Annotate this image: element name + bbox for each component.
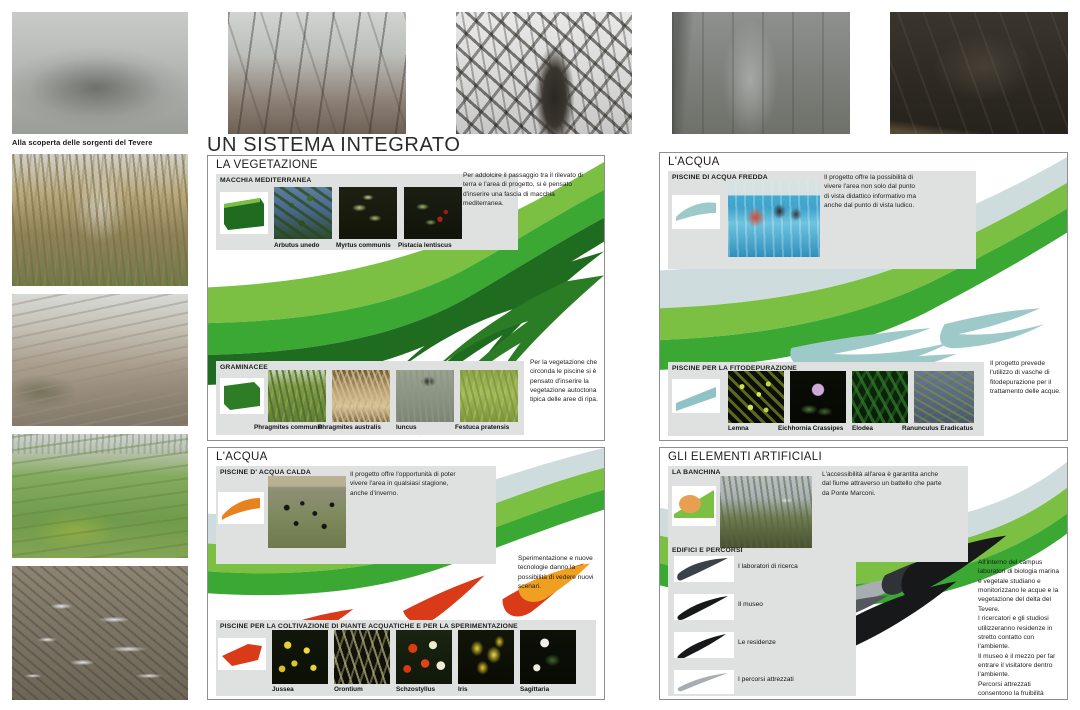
legend-label-residenze: Le residenze xyxy=(738,639,776,646)
plant-label-myrtus: Myrtus communis xyxy=(336,242,391,249)
plant-label-lemna: Lemna xyxy=(728,425,749,432)
legend-item-percorsi: I percorsi attrezzati xyxy=(674,670,842,694)
macchia-mediterranea-note: Per addolcire il passaggio tra il rileva… xyxy=(463,171,593,208)
orange-swatch-icon xyxy=(218,492,264,524)
piscine-acqua-fredda-note: Il progetto offre la possibilità di vive… xyxy=(824,173,920,210)
fog-lake-photo-caption: Alla scoperta delle sorgenti del Tevere xyxy=(12,138,152,147)
thermal-pool-photo xyxy=(268,476,346,548)
plant-thumb-arbutus xyxy=(274,187,332,239)
plant-thumb-myrtus xyxy=(339,187,397,239)
piscine-acqua-fredda-subtitle: PISCINE DI ACQUA FREDDA xyxy=(672,174,768,181)
plant-thumb-jussea xyxy=(272,630,328,684)
panel-elementi-artificiali-title: GLI ELEMENTI ARTIFICIALI xyxy=(668,451,822,463)
legend-label-laboratori: I laboratori di ricerca xyxy=(738,563,798,570)
plant-label-phragmites-communis: Phragmites communis xyxy=(254,424,323,431)
residenze-icon xyxy=(674,632,734,658)
plant-thumb-phragmites-communis xyxy=(268,370,326,422)
plant-thumb-iuncus xyxy=(396,370,454,422)
plant-thumb-ranunculus xyxy=(914,371,974,423)
coltivazione-swatch xyxy=(218,638,266,670)
plant-label-ranunculus: Ranunculus Eradicatus xyxy=(902,425,973,432)
plant-thumb-phragmites-australis xyxy=(332,370,390,422)
bare-tree-silhouette-photo xyxy=(456,12,632,134)
graminacee-swatch xyxy=(220,378,264,414)
fitodepurazione-subtitle: PISCINE PER LA FITODEPURAZIONE xyxy=(672,365,797,372)
panel-acqua-fredda-title: L'ACQUA xyxy=(668,156,720,168)
banchina-subtitle: LA BANCHINA xyxy=(672,469,721,476)
foggy-fence-woods-photo xyxy=(228,12,406,134)
piscine-acqua-calda-note: Il progetto offre l'opportunità di poter… xyxy=(350,470,458,498)
macchia-mediterranea-subtitle: MACCHIA MEDITERRANEA xyxy=(220,177,311,184)
museo-icon xyxy=(674,594,734,620)
plant-label-arbutus: Arbutus unedo xyxy=(274,242,319,249)
page-title: UN SISTEMA INTEGRATO xyxy=(207,134,461,157)
panel-vegetazione: LA VEGETAZIONE MACCHIA MEDITERRANEA Arbu… xyxy=(207,155,605,441)
plant-label-eichhornia: Eichhornia Crassipes xyxy=(778,425,843,432)
fog-monument-photo xyxy=(672,12,850,134)
panel-acqua-calda-title: L'ACQUA xyxy=(216,451,268,463)
coltivazione-subtitle: PISCINE PER LA COLTIVAZIONE DI PIANTE AC… xyxy=(220,623,518,630)
fitodepurazione-swatch xyxy=(672,379,720,413)
legend-label-museo: Il museo xyxy=(738,601,763,608)
panel-vegetazione-title: LA VEGETAZIONE xyxy=(216,159,318,171)
fitodepurazione-note: Il progetto prevede l'utilizzo di vasche… xyxy=(990,359,1062,396)
plant-thumb-schzostyllus xyxy=(396,630,452,684)
graminacee-subtitle: GRAMINACEE xyxy=(220,364,268,371)
plant-thumb-orontium xyxy=(334,630,390,684)
piscine-acqua-calda-subtitle: PISCINE D' ACQUA CALDA xyxy=(220,469,311,476)
panel-elementi-artificiali: GLI ELEMENTI ARTIFICIALI LA BANCHINA L'a… xyxy=(659,447,1068,700)
green-swatch-icon xyxy=(220,378,264,414)
coltivazione-note: Sperimentazione e nuove tecnologie danno… xyxy=(518,554,598,591)
river-quay-photo xyxy=(720,476,812,548)
macchia-mediterranea-swatch xyxy=(220,192,268,234)
dark-interior-photo xyxy=(890,12,1068,134)
plant-thumb-elodea xyxy=(852,371,908,423)
edifici-percorsi-note: All'interno del campus laboratori di bio… xyxy=(978,558,1062,700)
plant-thumb-lemna xyxy=(728,371,784,423)
teal-swatch-icon xyxy=(672,379,720,413)
laboratori-icon xyxy=(674,556,734,582)
plant-label-pistacia: Pistacia lentiscus xyxy=(398,242,452,249)
plant-label-iris: Iris xyxy=(458,686,468,693)
swimming-pool-photo xyxy=(728,181,820,257)
panel-acqua-fredda: L'ACQUA PISCINE DI ACQUA FREDDA Il proge… xyxy=(659,152,1068,441)
plant-thumb-festuca xyxy=(460,370,518,422)
plant-label-sagittaria: Sagittaria xyxy=(520,686,549,693)
edifici-percorsi-subtitle: EDIFICI E PERCORSI xyxy=(672,547,743,554)
red-swatch-icon xyxy=(218,638,266,670)
plant-label-festuca: Festuca pratensis xyxy=(455,424,509,431)
green-field-photo xyxy=(12,434,188,558)
teal-swatch-icon xyxy=(672,195,720,229)
acqua-calda-swatch xyxy=(218,492,264,524)
presentation-board: Alla scoperta delle sorgenti del Tevere … xyxy=(0,0,1080,710)
plant-label-iuncus: Iuncus xyxy=(396,424,417,431)
graminacee-note: Per la vegetazione che circonda le pisci… xyxy=(530,358,598,405)
riverbank-mud-photo xyxy=(12,294,188,426)
legend-item-laboratori: I laboratori di ricerca xyxy=(674,556,842,582)
plant-label-schzostyllus: Schzostyllus xyxy=(396,686,435,693)
acqua-fredda-swatch xyxy=(672,195,720,229)
legend-label-percorsi: I percorsi attrezzati xyxy=(738,676,794,683)
plant-label-phragmites-australis: Phragmites australis xyxy=(318,424,381,431)
panel-acqua-calda: L'ACQUA PISCINE D' ACQUA CALDA Il proget… xyxy=(207,447,605,700)
quay-swatch-icon xyxy=(672,486,716,526)
legend-item-residenze: Le residenze xyxy=(674,632,842,658)
banchina-swatch xyxy=(672,486,716,526)
fog-lake-photo xyxy=(12,12,188,134)
flooded-soil-photo xyxy=(12,566,188,700)
willow-rows-photo xyxy=(12,154,188,286)
plant-thumb-iris xyxy=(458,630,514,684)
banchina-note: L'accessibilità all'area è garantita anc… xyxy=(822,470,944,498)
plant-label-elodea: Elodea xyxy=(852,425,873,432)
plant-thumb-pistacia xyxy=(404,187,462,239)
green-swatch-icon xyxy=(220,192,268,234)
plant-thumb-sagittaria xyxy=(520,630,576,684)
plant-thumb-eichhornia xyxy=(790,371,846,423)
legend-item-museo: Il museo xyxy=(674,594,842,620)
percorsi-icon xyxy=(674,670,734,694)
plant-label-jussea: Jussea xyxy=(272,686,294,693)
plant-label-orontium: Orontium xyxy=(334,686,363,693)
